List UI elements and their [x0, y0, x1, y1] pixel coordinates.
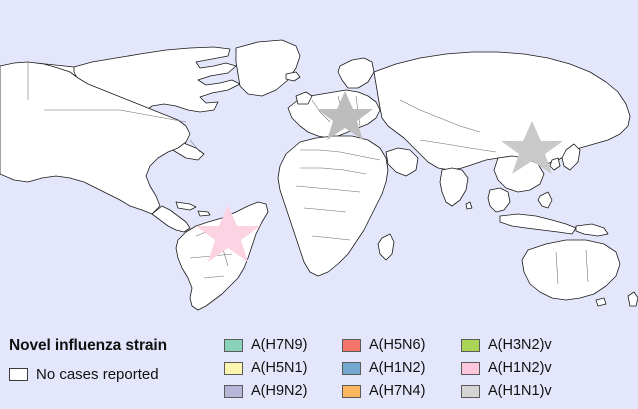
legend-label-h5n6: A(H5N6): [369, 338, 425, 353]
legend-label-h3n2v: A(H3N2)v: [488, 338, 552, 353]
legend-label-h7n4: A(H7N4): [369, 384, 425, 399]
legend-column-3: A(H3N2)v A(H1N2)v A(H1N1)v: [461, 334, 552, 403]
legend-swatch-h3n2v: [461, 339, 480, 352]
world-map-figure: Novel influenza strain No cases reported…: [0, 0, 638, 409]
legend-swatch-h7n4: [342, 385, 361, 398]
legend-item-no-cases[interactable]: No cases reported: [9, 366, 159, 383]
legend-swatch-h9n2: [224, 385, 243, 398]
legend-label-h1n2v: A(H1N2)v: [488, 361, 552, 376]
legend-swatch-h7n9: [224, 339, 243, 352]
map-legend: Novel influenza strain No cases reported…: [0, 330, 638, 409]
legend-item-h9n2[interactable]: A(H9N2): [224, 380, 307, 403]
legend-swatch-h5n1: [224, 362, 243, 375]
land-hispaniola: [198, 211, 210, 216]
legend-swatch-h1n2v: [461, 362, 480, 375]
legend-item-h7n9[interactable]: A(H7N9): [224, 334, 307, 357]
legend-title: Novel influenza strain: [9, 337, 167, 355]
legend-label-h5n1: A(H5N1): [251, 361, 307, 376]
legend-column-2: A(H5N6) A(H1N2) A(H7N4): [342, 334, 425, 403]
legend-item-h7n4[interactable]: A(H7N4): [342, 380, 425, 403]
legend-item-h1n1v[interactable]: A(H1N1)v: [461, 380, 552, 403]
legend-swatch-h1n2: [342, 362, 361, 375]
legend-item-h5n1[interactable]: A(H5N1): [224, 357, 307, 380]
legend-item-h3n2v[interactable]: A(H3N2)v: [461, 334, 552, 357]
legend-label-no-cases: No cases reported: [36, 366, 159, 383]
legend-swatch-no-cases: [9, 368, 28, 381]
legend-column-1: A(H7N9) A(H5N1) A(H9N2): [224, 334, 307, 403]
legend-swatch-h5n6: [342, 339, 361, 352]
legend-item-h5n6[interactable]: A(H5N6): [342, 334, 425, 357]
legend-label-h7n9: A(H7N9): [251, 338, 307, 353]
legend-label-h9n2: A(H9N2): [251, 384, 307, 399]
legend-item-h1n2[interactable]: A(H1N2): [342, 357, 425, 380]
legend-label-h1n2: A(H1N2): [369, 361, 425, 376]
legend-item-h1n2v[interactable]: A(H1N2)v: [461, 357, 552, 380]
legend-swatch-h1n1v: [461, 385, 480, 398]
legend-label-h1n1v: A(H1N1)v: [488, 384, 552, 399]
